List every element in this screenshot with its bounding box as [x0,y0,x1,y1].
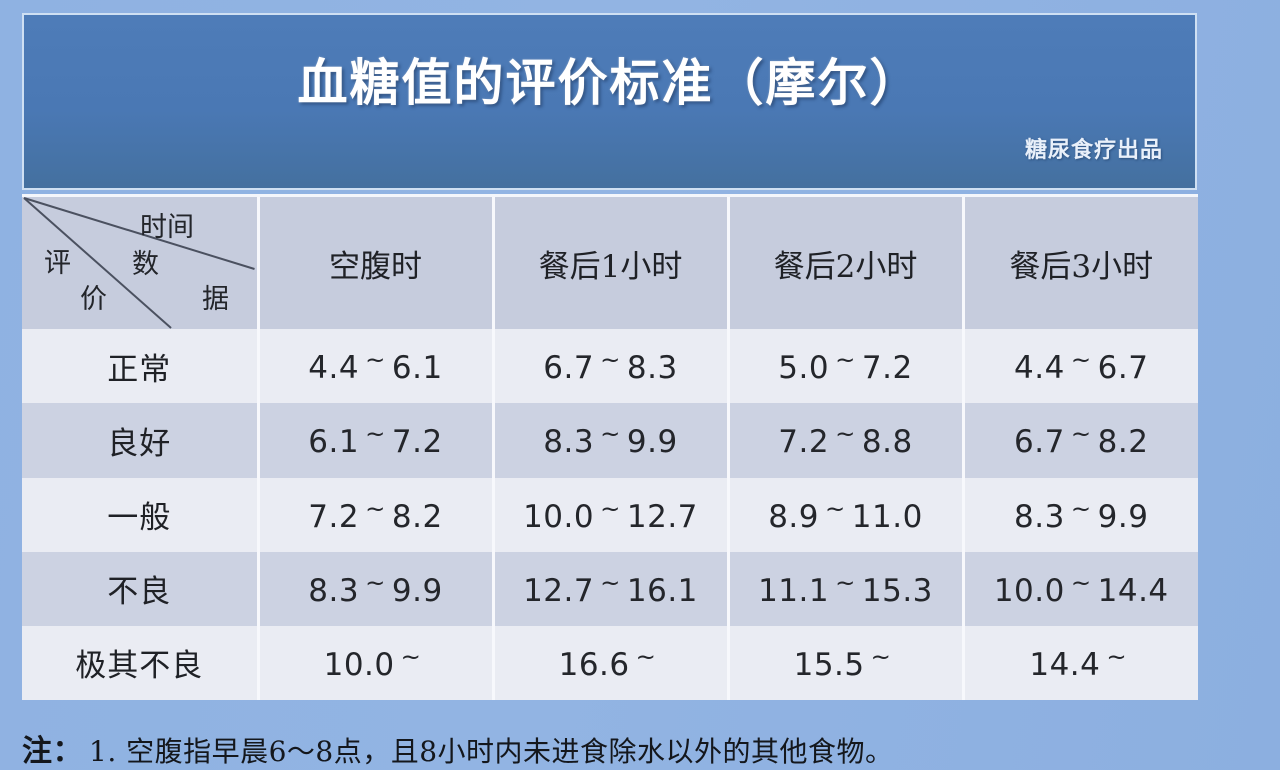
table-cell: 8.3~9.9 [258,552,493,626]
table-header-row: 时间 数 据 评 价 空腹时 餐后1小时 餐后2小时 餐后3小时 [22,197,1198,329]
column-header-2h-postmeal: 餐后2小时 [728,197,963,329]
value-low: 12.7 [523,573,594,609]
corner-data-label-1: 数 [132,242,159,281]
table-cell: 6.1~7.2 [258,403,493,477]
value-low: 11.1 [758,573,829,609]
value-high: 9.9 [1098,499,1149,535]
value-low: 7.2 [778,425,829,461]
table-cell: 10.0~14.4 [963,552,1198,626]
value-low: 8.3 [1014,499,1065,535]
value-low: 10.0 [523,499,594,535]
row-label: 良好 [22,403,258,477]
column-header-1h-postmeal: 餐后1小时 [493,197,728,329]
footnote-label: 注： [22,734,83,769]
value-high: 8.3 [627,350,678,386]
table-cell: 8.3~9.9 [493,403,728,477]
range-separator: ~ [600,346,621,374]
value-low: 8.9 [768,499,819,535]
value-high: 8.2 [392,499,443,535]
table-cell: 15.5~ [728,626,963,700]
table-cell: 16.6~ [493,626,728,700]
value-low: 6.7 [1014,425,1065,461]
table-row: 良好 6.1~7.2 8.3~9.9 7.2~8.8 6.7~8.2 [22,403,1198,477]
value-high: 6.1 [392,350,443,386]
corner-header-cell: 时间 数 据 评 价 [22,197,258,329]
table-cell: 4.4~6.1 [258,329,493,403]
range-separator: ~ [401,643,422,671]
value-low: 8.3 [308,573,359,609]
range-separator: ~ [871,643,892,671]
table-row: 不良 8.3~9.9 12.7~16.1 11.1~15.3 10.0~14.4 [22,552,1198,626]
row-label: 一般 [22,478,258,552]
range-separator: ~ [1071,495,1092,523]
value-high: 12.7 [627,499,698,535]
credit-watermark: 糖尿食疗出品 [1025,132,1163,164]
table-cell: 12.7~16.1 [493,552,728,626]
range-separator: ~ [825,495,846,523]
table-cell: 10.0~12.7 [493,478,728,552]
value-low: 5.0 [778,350,829,386]
table-cell: 4.4~6.7 [963,329,1198,403]
value-low: 15.5 [794,647,865,683]
value-high: 6.7 [1098,350,1149,386]
value-high: 7.2 [392,425,443,461]
table-row: 极其不良 10.0~ 16.6~ 15.5~ 14.4~ [22,626,1198,700]
page-title: 血糖值的评价标准（摩尔） [24,43,1195,115]
value-high: 7.2 [862,350,913,386]
footnote: 注：1. 空腹指早晨6～8点，且8小时内未进食除水以外的其他食物。 [22,726,1262,770]
value-low: 6.1 [308,425,359,461]
range-separator: ~ [1106,643,1127,671]
table-cell: 6.7~8.2 [963,403,1198,477]
value-high: 9.9 [627,425,678,461]
value-low: 7.2 [308,499,359,535]
range-separator: ~ [636,643,657,671]
value-low: 14.4 [1029,647,1100,683]
corner-time-label: 时间 [140,205,194,244]
range-separator: ~ [835,346,856,374]
table-cell: 8.3~9.9 [963,478,1198,552]
corner-eval-label-1: 评 [44,241,71,280]
value-low: 4.4 [1014,350,1065,386]
table-cell: 8.9~11.0 [728,478,963,552]
value-high: 14.4 [1098,573,1169,609]
value-low: 10.0 [994,573,1065,609]
value-high: 8.8 [862,425,913,461]
title-banner: 血糖值的评价标准（摩尔） 糖尿食疗出品 [22,13,1197,190]
value-high: 11.0 [852,499,923,535]
corner-data-label-2: 据 [202,277,229,316]
range-separator: ~ [365,420,386,448]
row-label: 正常 [22,329,258,403]
range-separator: ~ [1071,420,1092,448]
value-high: 15.3 [862,573,933,609]
value-low: 6.7 [543,350,594,386]
table-cell: 7.2~8.2 [258,478,493,552]
value-low: 10.0 [324,647,395,683]
value-high: 8.2 [1098,425,1149,461]
range-separator: ~ [1071,346,1092,374]
range-separator: ~ [835,420,856,448]
range-separator: ~ [365,346,386,374]
table-cell: 14.4~ [963,626,1198,700]
value-low: 16.6 [559,647,630,683]
value-low: 4.4 [308,350,359,386]
value-low: 8.3 [543,425,594,461]
range-separator: ~ [600,495,621,523]
column-header-3h-postmeal: 餐后3小时 [963,197,1198,329]
corner-eval-label-2: 价 [80,277,107,316]
range-separator: ~ [600,569,621,597]
range-separator: ~ [365,569,386,597]
range-separator: ~ [835,569,856,597]
row-label: 不良 [22,552,258,626]
column-header-fasting: 空腹时 [258,197,493,329]
blood-glucose-table: 时间 数 据 评 价 空腹时 餐后1小时 餐后2小时 餐后3小时 正常 4.4~… [22,194,1198,700]
table-row: 正常 4.4~6.1 6.7~8.3 5.0~7.2 4.4~6.7 [22,329,1198,403]
table-cell: 10.0~ [258,626,493,700]
table-cell: 11.1~15.3 [728,552,963,626]
table-cell: 7.2~8.8 [728,403,963,477]
footnote-text: 1. 空腹指早晨6～8点，且8小时内未进食除水以外的其他食物。 [89,735,894,768]
row-label: 极其不良 [22,626,258,700]
range-separator: ~ [1071,569,1092,597]
range-separator: ~ [365,495,386,523]
table-cell: 6.7~8.3 [493,329,728,403]
value-high: 9.9 [392,573,443,609]
value-high: 16.1 [627,573,698,609]
table-row: 一般 7.2~8.2 10.0~12.7 8.9~11.0 8.3~9.9 [22,478,1198,552]
range-separator: ~ [600,420,621,448]
table-cell: 5.0~7.2 [728,329,963,403]
